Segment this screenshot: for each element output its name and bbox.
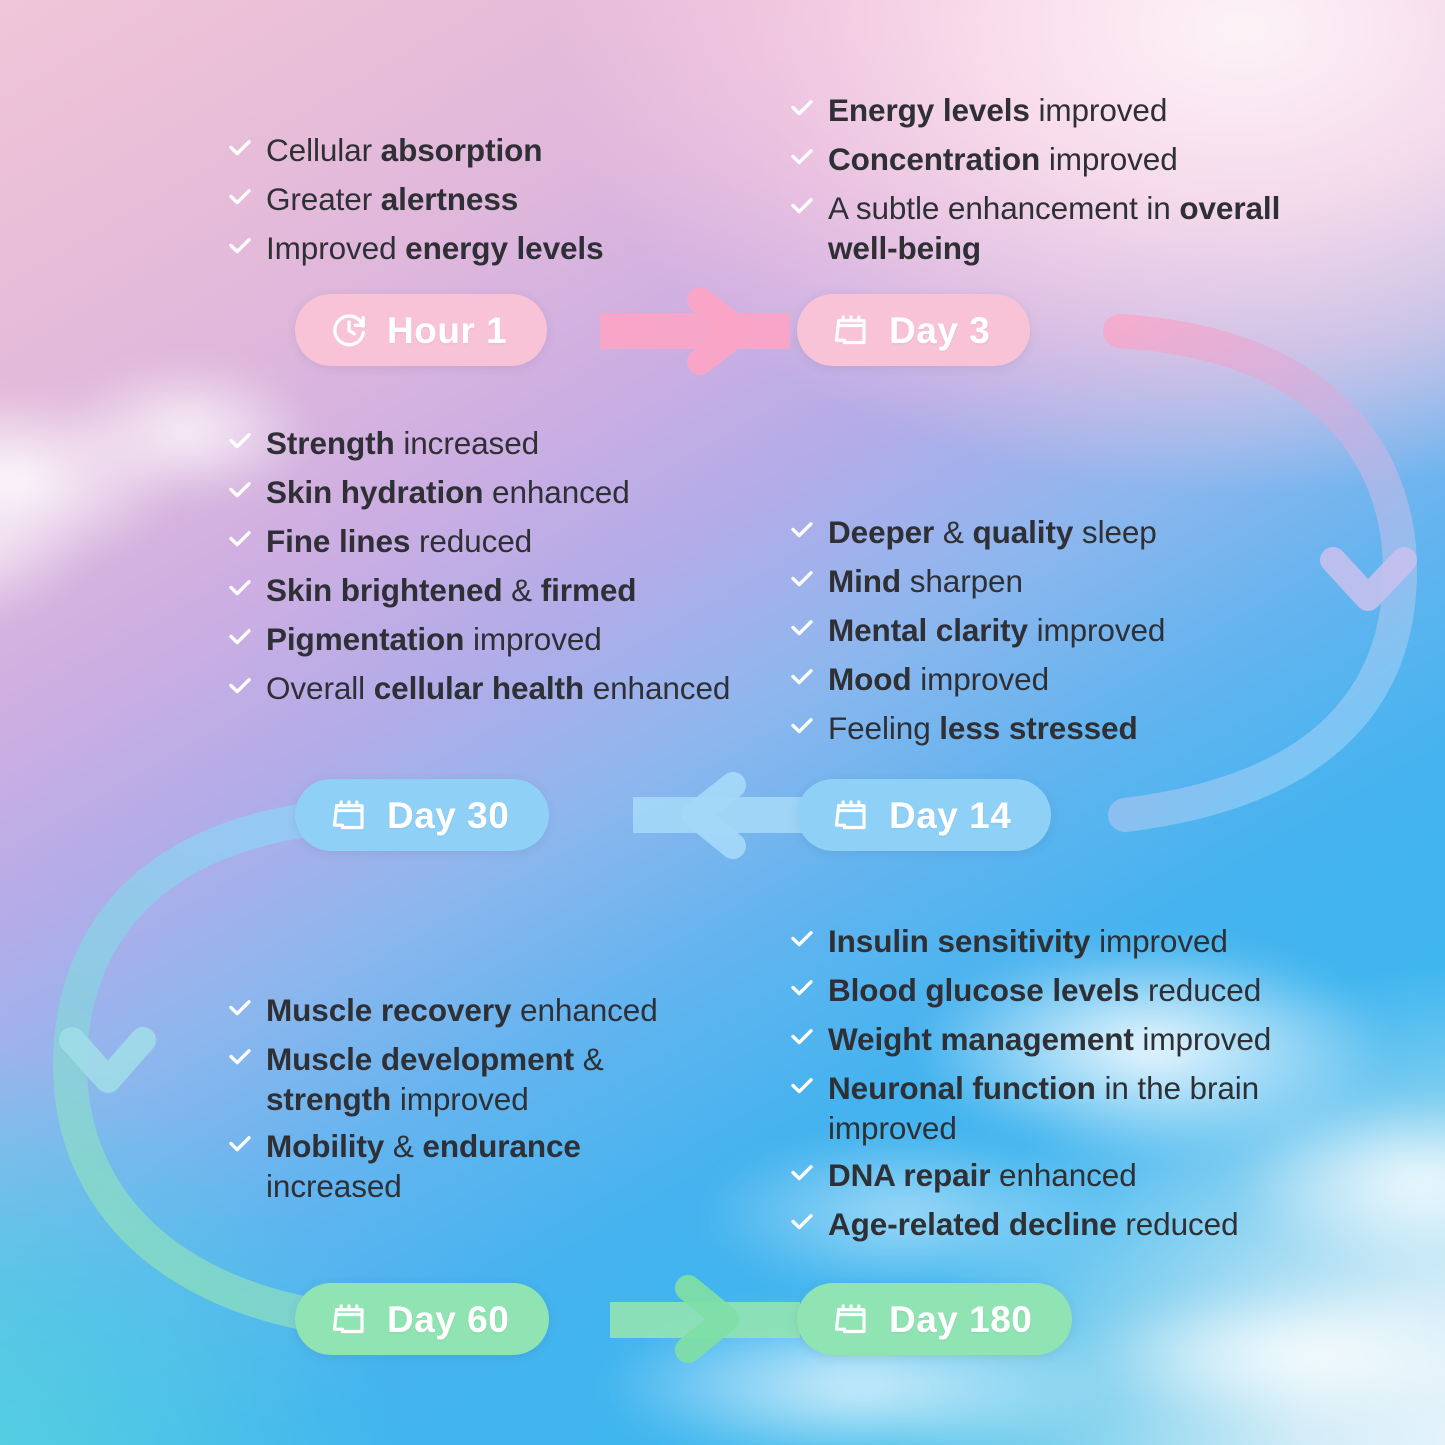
benefit-item: Skin brightened & firmed	[228, 570, 788, 613]
stage-pill-label: Day 14	[889, 797, 1011, 834]
stage-pill-day-14[interactable]: Day 14	[797, 779, 1051, 851]
benefits-day-180: Insulin sensitivity improvedBlood glucos…	[790, 921, 1350, 1253]
check-icon	[790, 99, 814, 133]
benefit-item: Greater alertness	[228, 179, 748, 222]
benefit-item: Mind sharpen	[790, 561, 1310, 604]
check-icon	[228, 628, 252, 662]
benefit-item: Mental clarity improved	[790, 610, 1310, 653]
benefit-item: Strength increased	[228, 423, 788, 466]
calendar-icon	[329, 795, 369, 835]
benefit-item: Cellular absorption	[228, 130, 748, 173]
benefit-item: Fine lines reduced	[228, 521, 788, 564]
stage-pill-day-60[interactable]: Day 60	[295, 1283, 549, 1355]
benefit-item: DNA repair enhanced	[790, 1155, 1350, 1198]
benefit-text: Skin hydration enhanced	[266, 472, 630, 512]
benefit-item: Overall cellular health enhanced	[228, 668, 788, 711]
check-icon	[228, 188, 252, 222]
benefit-text: DNA repair enhanced	[828, 1155, 1137, 1195]
benefit-text: Blood glucose levels reduced	[828, 970, 1261, 1010]
check-icon	[790, 979, 814, 1013]
check-icon	[790, 1077, 814, 1111]
check-icon	[790, 1213, 814, 1247]
benefits-hour-1: Cellular absorptionGreater alertnessImpr…	[228, 130, 748, 277]
check-icon	[228, 237, 252, 271]
benefit-text: Feeling less stressed	[828, 708, 1138, 748]
benefit-text: Cellular absorption	[266, 130, 542, 170]
benefit-item: Feeling less stressed	[790, 708, 1310, 751]
benefit-text: Muscle recovery enhanced	[266, 990, 658, 1030]
stage-pill-day-3[interactable]: Day 3	[797, 294, 1030, 366]
calendar-icon	[329, 1299, 369, 1339]
benefit-text: Concentration improved	[828, 139, 1178, 179]
check-icon	[228, 530, 252, 564]
benefit-text: Greater alertness	[266, 179, 518, 219]
benefits-day-3: Energy levels improvedConcentration impr…	[790, 90, 1310, 275]
benefit-text: Age-related decline reduced	[828, 1204, 1239, 1244]
check-icon	[790, 717, 814, 751]
benefit-text: Improved energy levels	[266, 228, 604, 268]
calendar-icon	[831, 795, 871, 835]
benefit-text: A subtle enhancement in overall well-bei…	[828, 188, 1310, 269]
benefit-item: Concentration improved	[790, 139, 1310, 182]
benefit-text: Skin brightened & firmed	[266, 570, 636, 610]
benefit-text: Neuronal function in the brain improved	[828, 1068, 1350, 1149]
check-icon	[790, 668, 814, 702]
stage-pill-hour-1[interactable]: Hour 1	[295, 294, 547, 366]
benefit-text: Energy levels improved	[828, 90, 1167, 130]
benefit-text: Mind sharpen	[828, 561, 1023, 601]
benefit-text: Pigmentation improved	[266, 619, 602, 659]
stage-pill-label: Day 3	[889, 312, 990, 349]
stage-pill-day-180[interactable]: Day 180	[797, 1283, 1072, 1355]
benefit-text: Insulin sensitivity improved	[828, 921, 1228, 961]
benefit-text: Mobility & endurance increased	[266, 1126, 708, 1207]
benefit-item: Insulin sensitivity improved	[790, 921, 1350, 964]
check-icon	[790, 148, 814, 182]
check-icon	[228, 999, 252, 1033]
check-icon	[790, 197, 814, 231]
check-icon	[790, 1028, 814, 1062]
benefit-text: Mental clarity improved	[828, 610, 1165, 650]
stage-pill-label: Day 30	[387, 797, 509, 834]
check-icon	[228, 432, 252, 466]
check-icon	[228, 481, 252, 515]
benefit-item: Muscle recovery enhanced	[228, 990, 708, 1033]
stage-pill-label: Day 180	[889, 1301, 1032, 1338]
infographic-canvas: Cellular absorptionGreater alertnessImpr…	[0, 0, 1445, 1445]
benefit-text: Deeper & quality sleep	[828, 512, 1157, 552]
benefit-text: Fine lines reduced	[266, 521, 532, 561]
benefit-item: Weight management improved	[790, 1019, 1350, 1062]
benefit-item: Age-related decline reduced	[790, 1204, 1350, 1247]
check-icon	[790, 521, 814, 555]
calendar-icon	[831, 310, 871, 350]
benefit-item: Mobility & endurance increased	[228, 1126, 708, 1207]
benefit-item: A subtle enhancement in overall well-bei…	[790, 188, 1310, 269]
benefit-item: Improved energy levels	[228, 228, 748, 271]
check-icon	[228, 579, 252, 613]
benefit-item: Neuronal function in the brain improved	[790, 1068, 1350, 1149]
benefit-item: Skin hydration enhanced	[228, 472, 788, 515]
benefit-item: Energy levels improved	[790, 90, 1310, 133]
benefit-text: Mood improved	[828, 659, 1049, 699]
check-icon	[790, 619, 814, 653]
calendar-icon	[831, 1299, 871, 1339]
benefit-text: Overall cellular health enhanced	[266, 668, 730, 708]
stage-pill-label: Day 60	[387, 1301, 509, 1338]
benefit-item: Mood improved	[790, 659, 1310, 702]
benefit-item: Deeper & quality sleep	[790, 512, 1310, 555]
check-icon	[228, 1048, 252, 1082]
benefit-text: Muscle development & strength improved	[266, 1039, 708, 1120]
benefits-day-14: Deeper & quality sleepMind sharpenMental…	[790, 512, 1310, 757]
clock-rotate-icon	[329, 310, 369, 350]
check-icon	[790, 570, 814, 604]
benefit-item: Pigmentation improved	[228, 619, 788, 662]
stage-pill-day-30[interactable]: Day 30	[295, 779, 549, 851]
benefit-text: Weight management improved	[828, 1019, 1271, 1059]
stage-pill-label: Hour 1	[387, 312, 507, 349]
benefit-item: Blood glucose levels reduced	[790, 970, 1350, 1013]
check-icon	[790, 1164, 814, 1198]
benefit-item: Muscle development & strength improved	[228, 1039, 708, 1120]
check-icon	[790, 930, 814, 964]
benefit-text: Strength increased	[266, 423, 539, 463]
benefits-day-30: Strength increasedSkin hydration enhance…	[228, 423, 788, 717]
benefits-day-60: Muscle recovery enhancedMuscle developme…	[228, 990, 708, 1212]
check-icon	[228, 677, 252, 711]
check-icon	[228, 139, 252, 173]
check-icon	[228, 1135, 252, 1169]
